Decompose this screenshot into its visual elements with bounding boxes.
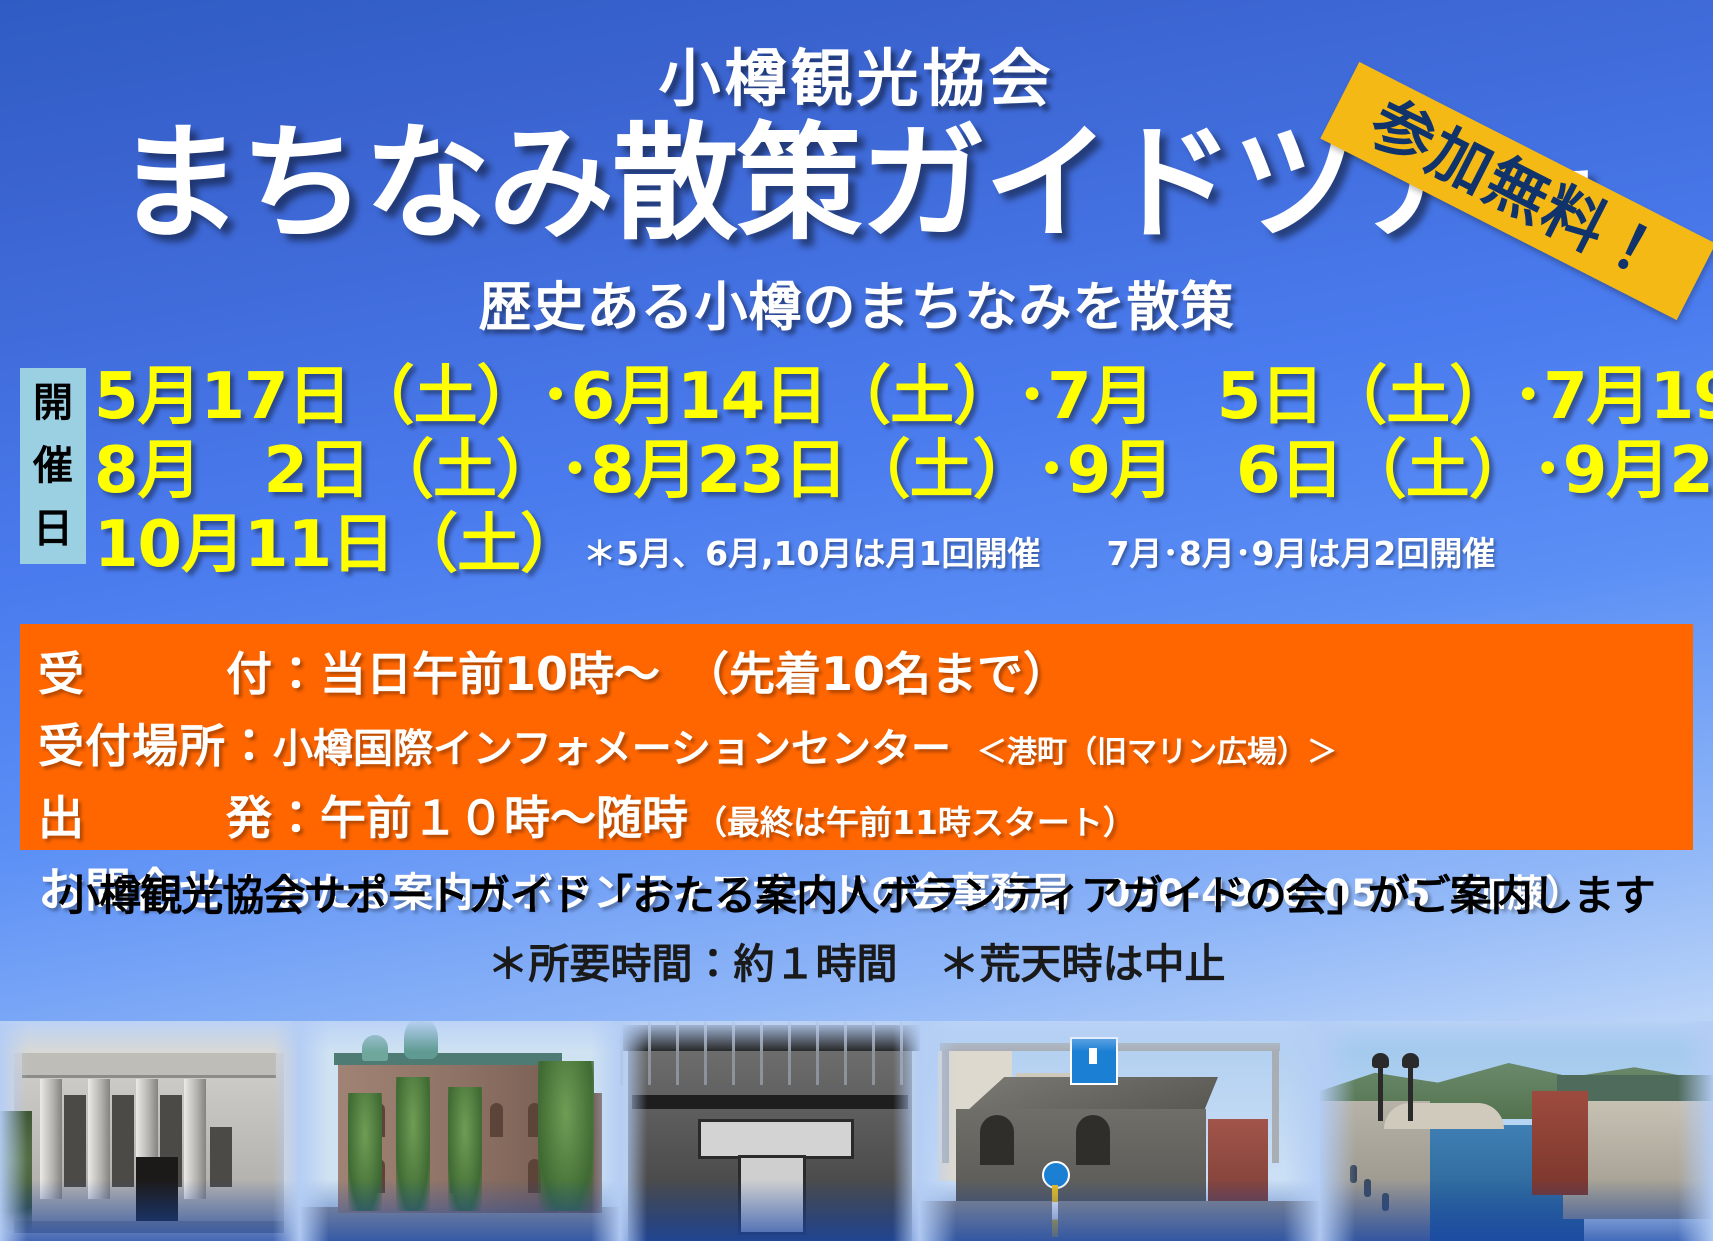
- event-dates-label-char-1: 開: [33, 383, 73, 423]
- event-dates-row: 5月17日（土）･6月14日（土）･7月 5日（土）･7月19日（土）: [94, 360, 1705, 434]
- photo-stone-warehouse: [920, 1021, 1320, 1241]
- event-dates-label-char-3: 日: [33, 509, 73, 549]
- photo-strip: [0, 1021, 1713, 1241]
- page-subtitle: 歴史ある小樽のまちなみを散策: [0, 265, 1713, 341]
- info-value-departure: 午前１０時～随時: [320, 782, 688, 848]
- info-row-reception: 受 付： 当日午前10時～ （先着10名まで）: [38, 638, 1675, 704]
- photo-old-bank-building: [0, 1021, 300, 1241]
- info-label-departure: 出 発：: [38, 782, 320, 848]
- photo-historic-storefront: [620, 1021, 920, 1241]
- photo-brick-museum: [300, 1021, 620, 1241]
- event-dates-row-last: 10月11日（土） ＊5月、6月,10月は月1回開催 7月･8月･9月は月2回開…: [94, 508, 1705, 582]
- event-dates-section: 開 催 日 5月17日（土）･6月14日（土）･7月 5日（土）･7月19日（土…: [0, 360, 1713, 575]
- tour-notes-line: ＊所要時間：約１時間 ＊荒天時は中止: [0, 930, 1713, 990]
- event-dates-row: 8月 2日（土）･8月23日（土）･9月 6日（土）･9月20日（土）: [94, 434, 1705, 508]
- event-dates-label: 開 催 日: [20, 368, 86, 564]
- event-dates-row: 10月11日（土）: [94, 508, 583, 582]
- info-value-reception: 当日午前10時～ （先着10名まで）: [320, 638, 1069, 704]
- info-row-location: 受付場所： 小樽国際インフォメーションセンター ＜港町（旧マリン広場）＞: [38, 710, 1675, 776]
- poster-root: 小樽観光協会 まちなみ散策ガイドツアー 歴史ある小樽のまちなみを散策 参加無料！…: [0, 0, 1713, 1241]
- organization-name: 小樽観光協会: [0, 28, 1713, 118]
- info-location-area: ＜港町（旧マリン広場）＞: [977, 727, 1337, 771]
- info-box: 受 付： 当日午前10時～ （先着10名まで） 受付場所： 小樽国際インフォメー…: [20, 624, 1693, 850]
- info-label-reception: 受 付：: [38, 638, 320, 704]
- info-value-location: 小樽国際インフォメーションセンター: [273, 716, 951, 774]
- photo-otaru-canal: [1320, 1021, 1713, 1241]
- support-guide-line: 小樽観光協会サポートガイド「おたる案内人ボランティアガイドの会」がご案内します: [0, 862, 1713, 923]
- event-dates-note: ＊5月、6月,10月は月1回開催 7月･8月･9月は月2回開催: [583, 535, 1495, 582]
- info-row-departure: 出 発： 午前１０時～随時 （最終は午前11時スタート）: [38, 782, 1675, 848]
- info-label-location: 受付場所：: [38, 710, 273, 776]
- event-dates-list: 5月17日（土）･6月14日（土）･7月 5日（土）･7月19日（土） 8月 2…: [94, 360, 1705, 583]
- info-departure-note: （最終は午前11時スタート）: [694, 796, 1136, 844]
- event-dates-label-char-2: 催: [33, 446, 73, 486]
